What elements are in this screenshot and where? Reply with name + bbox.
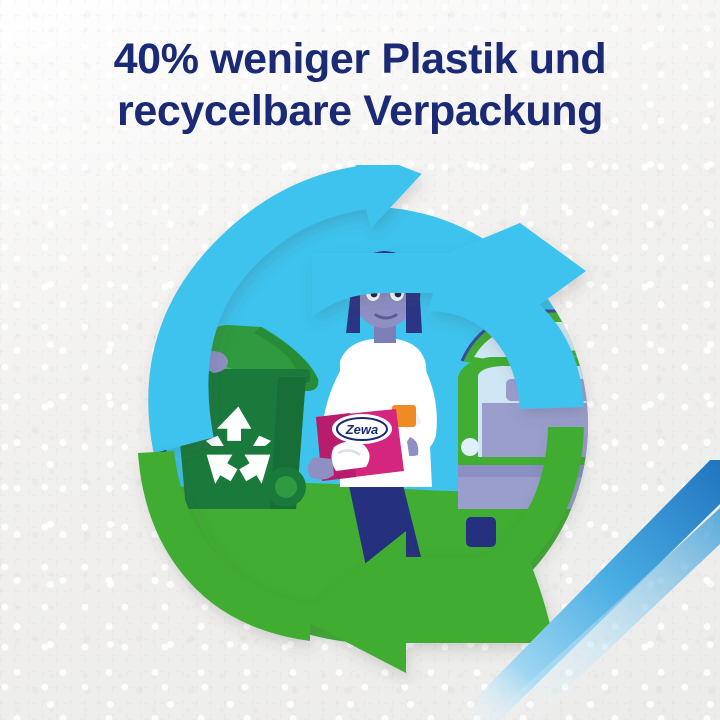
product-brand-label: Zewa: [345, 422, 379, 437]
recycling-cycle-illustration: Zewa: [110, 165, 630, 685]
headline-line-2: recycelbare Verpackung: [40, 86, 680, 138]
headline-line-1: 40% weniger Plastik und: [40, 34, 680, 86]
page-title: 40% weniger Plastik und recycelbare Verp…: [0, 34, 720, 137]
promo-banner: 40% weniger Plastik und recycelbare Verp…: [0, 0, 720, 720]
